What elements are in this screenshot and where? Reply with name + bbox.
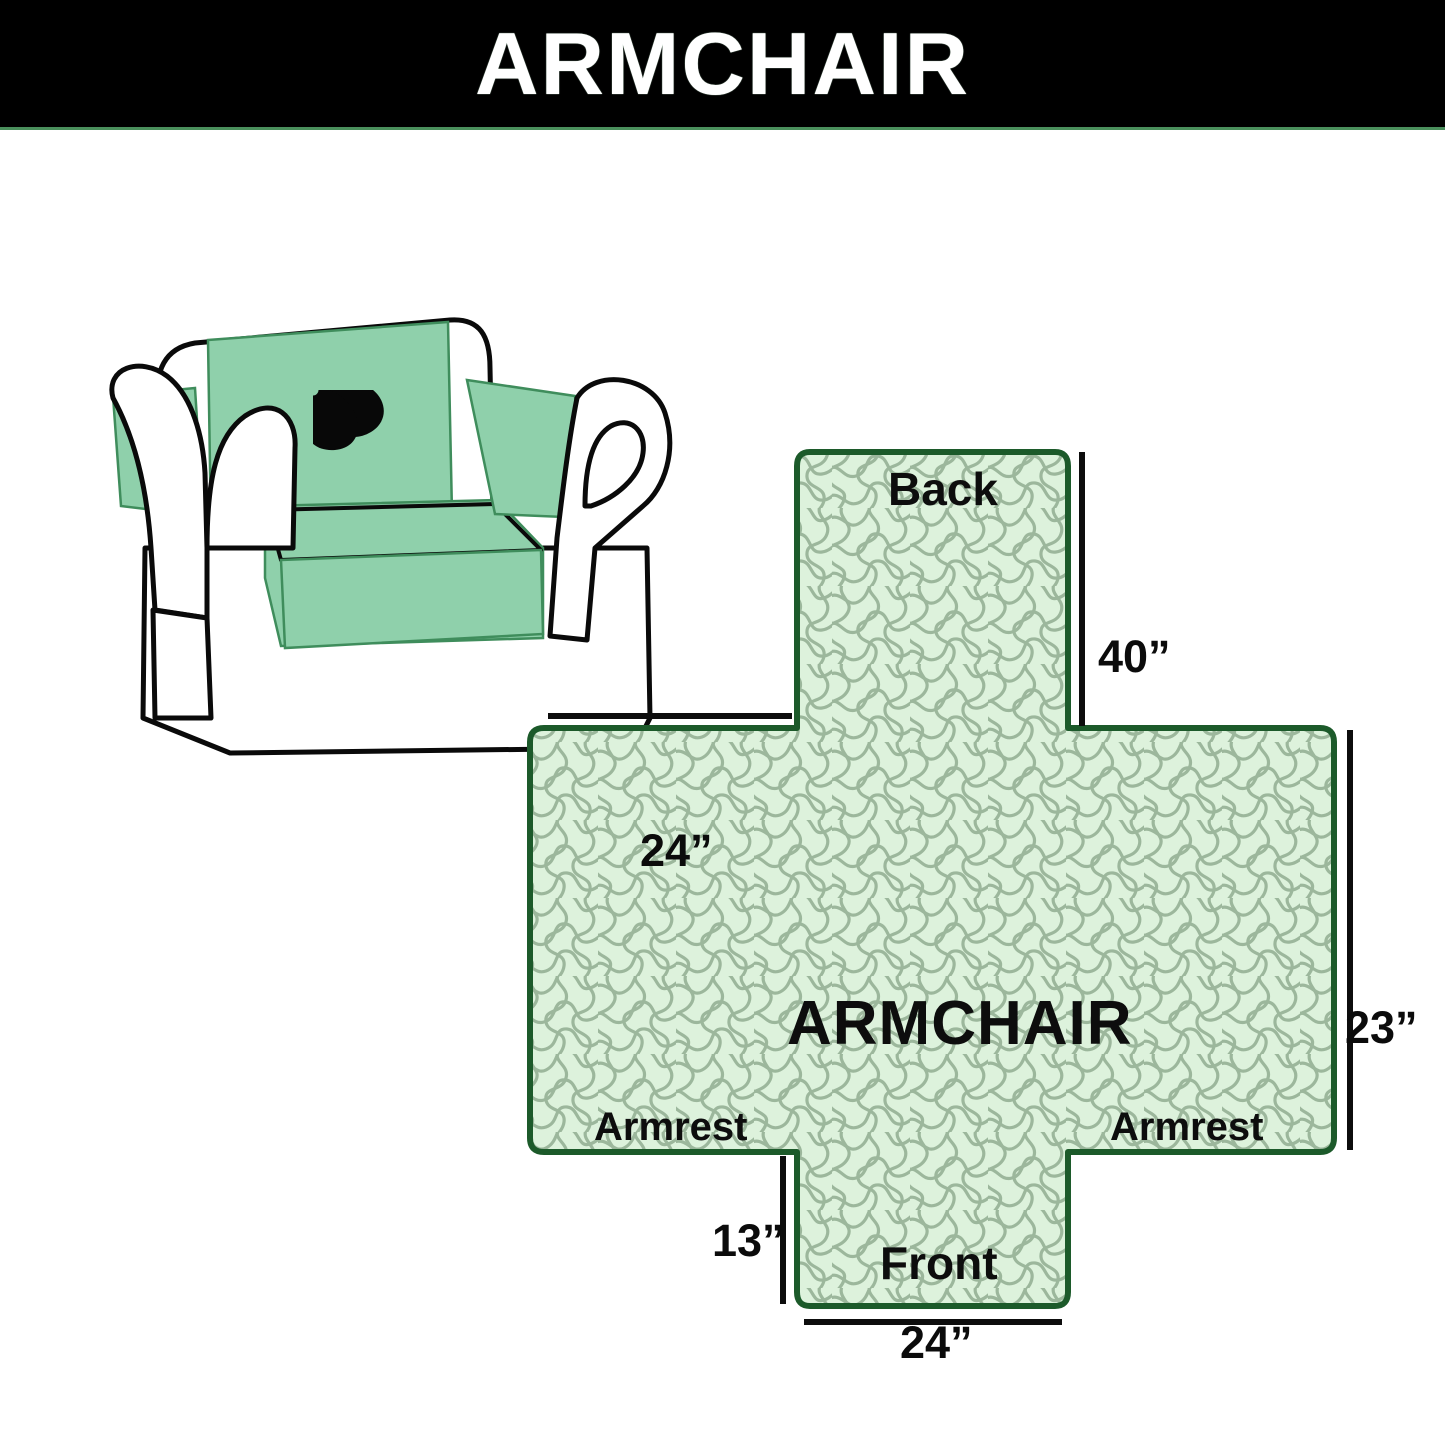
dimension-armrest-depth: 23”	[1345, 1005, 1418, 1050]
product-dimension-infographic: ARMCHAIR	[0, 0, 1445, 1445]
panel-label-armrest-left: Armrest	[594, 1107, 747, 1147]
dimension-back-width: 24”	[640, 828, 713, 873]
dimension-back-height: 40”	[1098, 634, 1171, 679]
panel-label-front: Front	[880, 1240, 998, 1286]
panel-label-armrest-right: Armrest	[1110, 1107, 1263, 1147]
dimension-front-height: 13”	[712, 1218, 785, 1263]
dimension-front-width: 24”	[900, 1320, 973, 1365]
header-divider	[0, 127, 1445, 130]
header-banner: ARMCHAIR	[0, 0, 1445, 127]
panel-label-center: ARMCHAIR	[787, 993, 1133, 1055]
page-title: ARMCHAIR	[475, 20, 970, 108]
panel-label-back: Back	[888, 466, 998, 512]
